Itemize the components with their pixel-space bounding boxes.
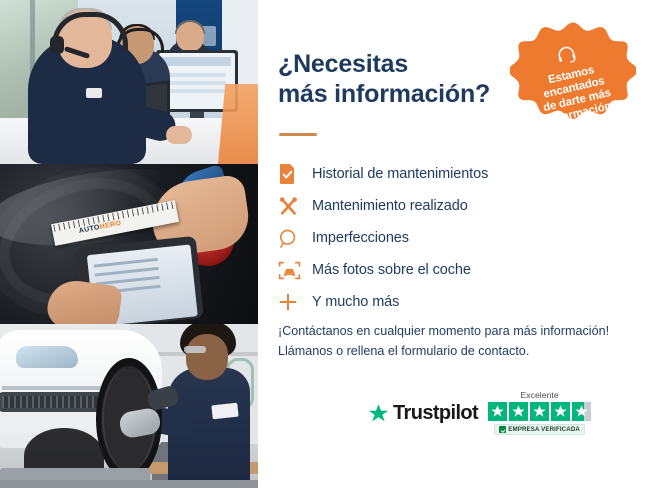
- feature-label: Más fotos sobre el coche: [312, 262, 471, 278]
- tools-icon: [278, 196, 312, 217]
- star-1: [488, 402, 507, 421]
- page-title: ¿Necesitas más información?: [278, 50, 528, 109]
- title-divider: [279, 133, 317, 136]
- feature-list: Historial de mantenimientos Mantenimient…: [278, 158, 578, 318]
- maintenance-history-icon: [278, 163, 312, 185]
- page-title-line-2: más información?: [278, 80, 490, 108]
- feature-item-maintenance-done: Mantenimiento realizado: [278, 190, 578, 222]
- car-scan-icon: [278, 260, 312, 281]
- trustpilot-rating-label: Excelente: [520, 390, 558, 400]
- info-badge: Estamos encantados de darte más informac…: [510, 20, 636, 146]
- page-title-line-1: ¿Necesitas: [278, 50, 408, 78]
- promo-card: Agentes de atención al cliente con auric…: [0, 0, 650, 488]
- feature-item-maintenance-history: Historial de mantenimientos: [278, 158, 578, 190]
- photo-strip: Agentes de atención al cliente con auric…: [0, 0, 258, 488]
- star-2: [509, 402, 528, 421]
- feature-label: Historial de mantenimientos: [312, 166, 488, 182]
- mechanic-wheel-photo: Mecánico revisando la rueda de un coche …: [0, 324, 258, 488]
- feature-item-much-more: Y mucho más: [278, 286, 578, 318]
- feature-label: Imperfecciones: [312, 230, 409, 246]
- feature-label: Mantenimiento realizado: [312, 198, 468, 214]
- trustpilot-star-icon: [368, 403, 389, 424]
- contact-line-1: ¡Contáctanos en cualquier momento para m…: [278, 322, 628, 342]
- trustpilot-wordmark: Trustpilot: [393, 402, 478, 425]
- verified-label: EMPRESA VERIFICADA: [508, 426, 580, 433]
- headset-icon: [555, 44, 580, 71]
- star-5-partial: [572, 402, 591, 421]
- content-panel: ¿Necesitas más información? Historial de…: [258, 0, 650, 488]
- verified-company-badge: EMPRESA VERIFICADA: [494, 424, 585, 435]
- trustpilot-logo: Trustpilot: [368, 402, 478, 425]
- plus-icon: [278, 292, 312, 312]
- check-icon: [499, 426, 506, 433]
- contact-line-2: Llámanos o rellena el formulario de cont…: [278, 342, 628, 362]
- call-center-agents-photo: Agentes de atención al cliente con auric…: [0, 0, 258, 164]
- badge-text: Estamos encantados de darte más informac…: [536, 62, 615, 128]
- trustpilot-widget[interactable]: Trustpilot Excelente EMPRESA VERIFICADA: [368, 390, 591, 435]
- feature-item-imperfections: Imperfecciones: [278, 222, 578, 254]
- star-3: [530, 402, 549, 421]
- trustpilot-stars: [488, 402, 591, 421]
- magnifier-icon: [278, 228, 312, 249]
- star-4: [551, 402, 570, 421]
- car-inspection-ruler-photo: AUTOHERO Inspección de carrocería con re…: [0, 164, 258, 324]
- feature-label: Y mucho más: [312, 294, 399, 310]
- feature-item-more-photos: Más fotos sobre el coche: [278, 254, 578, 286]
- contact-text: ¡Contáctanos en cualquier momento para m…: [278, 322, 628, 361]
